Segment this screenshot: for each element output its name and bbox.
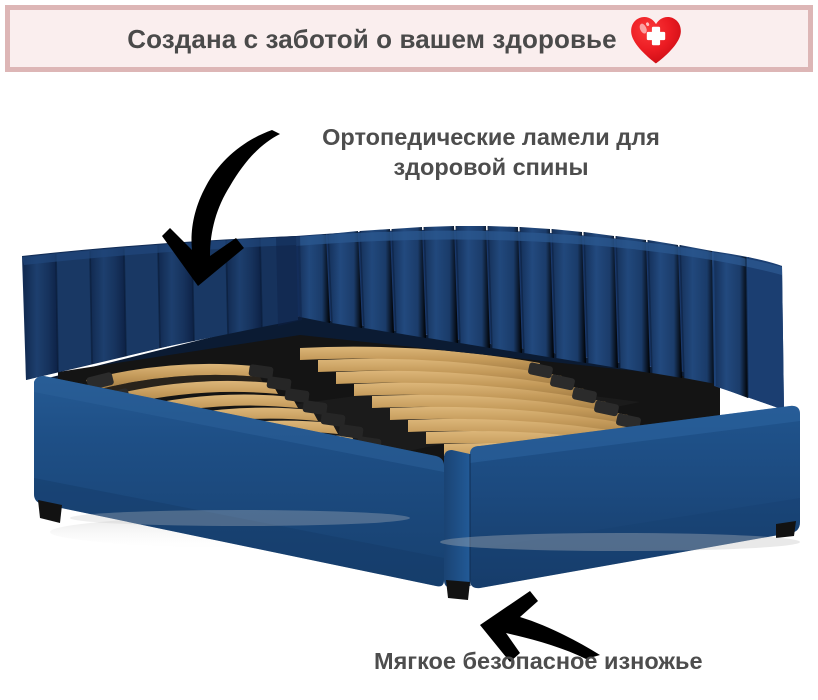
bed-product-illustration	[0, 80, 818, 640]
annotation-soft-footboard: Мягкое безопасное изножье	[340, 646, 818, 676]
header-banner: Создана с заботой о вашем здоровье	[5, 5, 813, 72]
header-banner-content: Создана с заботой о вашем здоровье	[127, 14, 682, 64]
banner-title: Создана с заботой о вашем здоровье	[127, 26, 616, 52]
heart-medical-icon	[629, 15, 683, 65]
headboard-right-wing	[712, 251, 784, 410]
